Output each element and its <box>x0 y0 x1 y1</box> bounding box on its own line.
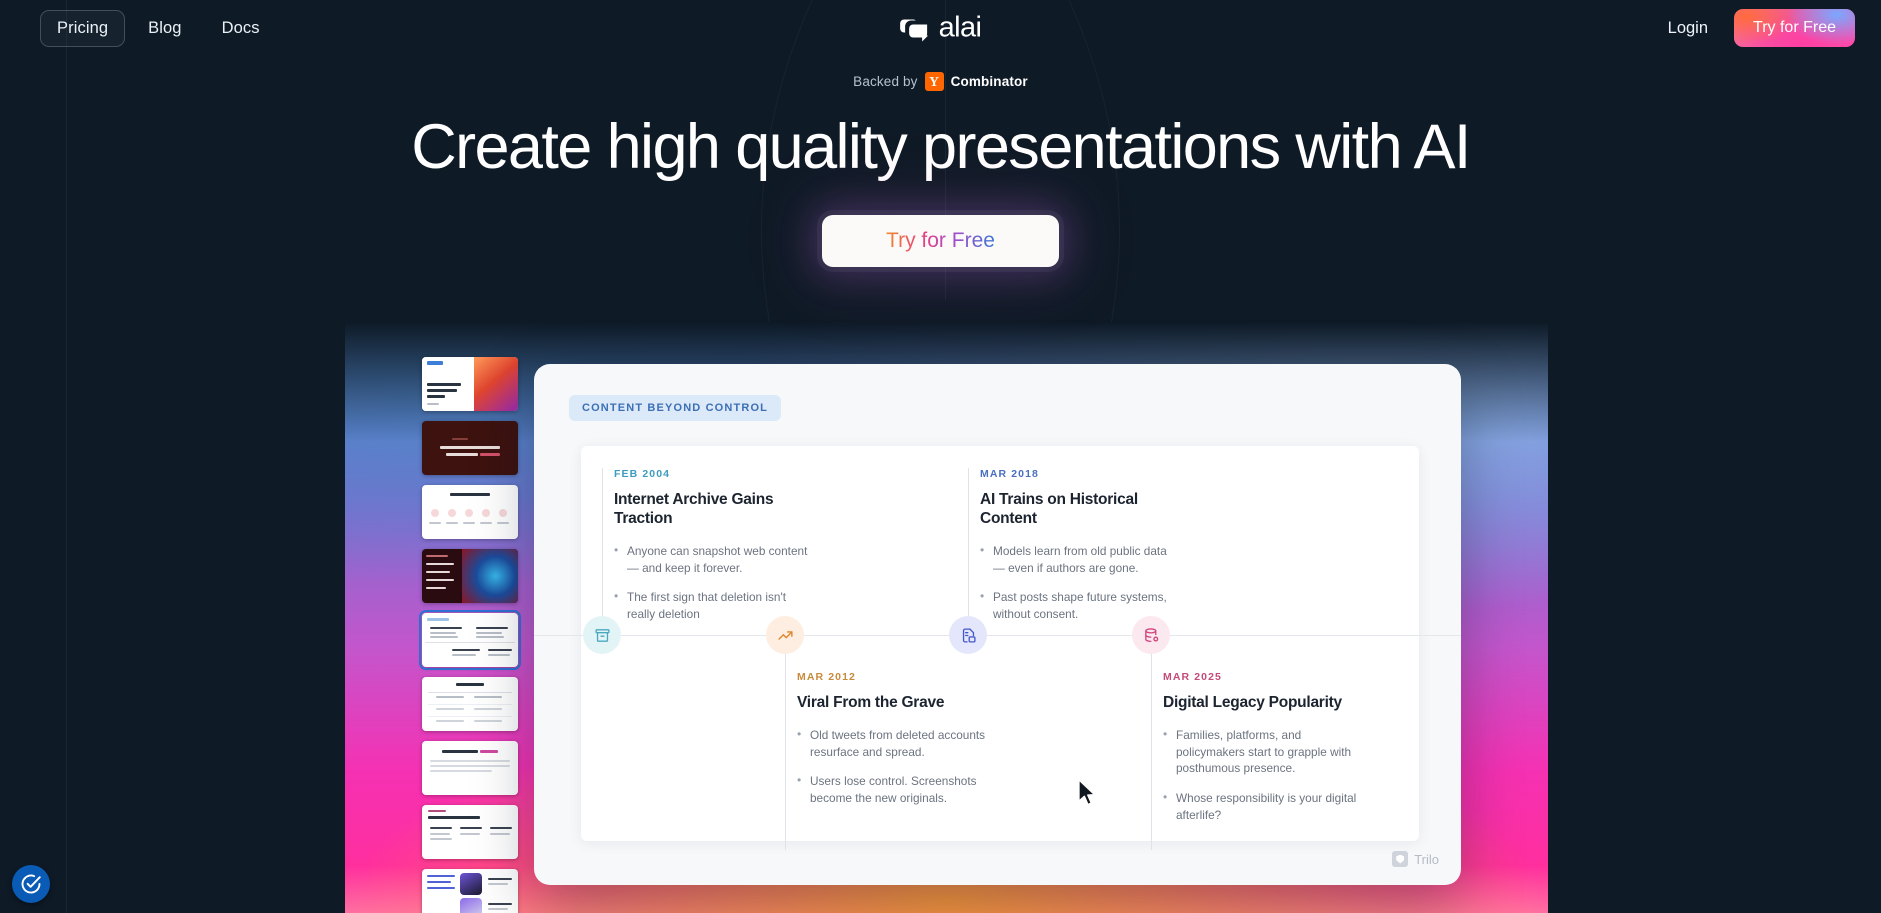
timeline-date: MAR 2012 <box>797 671 993 683</box>
timeline-title: Viral From the Grave <box>797 694 993 713</box>
timeline-date: MAR 2025 <box>1163 671 1359 683</box>
login-link[interactable]: Login <box>1658 13 1718 44</box>
document-ai-icon[interactable] <box>949 616 987 654</box>
timeline-board: FEB 2004 Internet Archive Gains Traction… <box>581 446 1419 841</box>
timeline-bullets: Models learn from old public data — even… <box>980 543 1176 623</box>
timeline-title: Digital Legacy Popularity <box>1163 694 1359 713</box>
list-item[interactable] <box>422 485 518 539</box>
page-title: Create high quality presentations with A… <box>0 113 1881 181</box>
list-item: Families, platforms, and policymakers st… <box>1163 727 1359 777</box>
timeline-bullets: Anyone can snapshot web content — and ke… <box>614 543 810 623</box>
list-item: Old tweets from deleted accounts resurfa… <box>797 727 993 761</box>
database-settings-icon[interactable] <box>1132 616 1170 654</box>
slide-thumbnail-rail[interactable] <box>422 357 518 913</box>
shield-icon <box>1392 851 1408 867</box>
list-item[interactable] <box>422 677 518 731</box>
ycombinator-icon: Y <box>925 72 944 91</box>
nav-links: Pricing Blog Docs <box>40 10 277 47</box>
try-for-free-nav-button[interactable]: Try for Free <box>1734 9 1855 47</box>
nav-item-blog[interactable]: Blog <box>131 10 198 47</box>
brand-name: alai <box>939 12 982 45</box>
list-item[interactable] <box>422 805 518 859</box>
trilo-label: Trilo <box>1414 852 1439 867</box>
backed-by-badge: Backed by Y Combinator <box>853 72 1028 91</box>
timeline-stem <box>785 635 786 850</box>
nav-actions: Login Try for Free <box>1658 9 1855 47</box>
list-item-selected[interactable] <box>422 613 518 667</box>
timeline-entry: FEB 2004 Internet Archive Gains Traction… <box>614 468 810 636</box>
trilo-watermark: Trilo <box>1392 851 1439 867</box>
landing-page: Pricing Blog Docs alai Login Try for Fre… <box>0 0 1881 913</box>
list-item: Models learn from old public data — even… <box>980 543 1176 577</box>
timeline-date: FEB 2004 <box>614 468 810 480</box>
list-item[interactable] <box>422 357 518 411</box>
timeline-entry: MAR 2018 AI Trains on Historical Content… <box>980 468 1176 636</box>
try-for-free-hero-button[interactable]: Try for Free <box>822 215 1059 267</box>
list-item[interactable] <box>422 421 518 475</box>
backed-by-label: Backed by <box>853 74 917 89</box>
list-item: Anyone can snapshot web content — and ke… <box>614 543 810 577</box>
timeline-title: Internet Archive Gains Traction <box>614 491 810 529</box>
list-item: Users lose control. Screenshots become t… <box>797 773 993 807</box>
brand-logo[interactable]: alai <box>900 12 982 45</box>
timeline-stem <box>1151 635 1152 850</box>
timeline-date: MAR 2018 <box>980 468 1176 480</box>
list-item: Whose responsibility is your digital aft… <box>1163 790 1359 824</box>
list-item[interactable] <box>422 741 518 795</box>
timeline-title: AI Trains on Historical Content <box>980 491 1176 529</box>
accessibility-check-icon[interactable] <box>12 865 50 903</box>
list-item[interactable] <box>422 869 518 913</box>
top-navigation: Pricing Blog Docs alai Login Try for Fre… <box>0 0 1881 56</box>
list-item[interactable] <box>422 549 518 603</box>
slide-section-chip: CONTENT BEYOND CONTROL <box>569 395 781 421</box>
timeline-bullets: Families, platforms, and policymakers st… <box>1163 727 1359 824</box>
archive-box-icon[interactable] <box>583 616 621 654</box>
nav-item-docs[interactable]: Docs <box>205 10 277 47</box>
hero-cta-wrapper: Try for Free <box>0 215 1881 267</box>
try-for-free-hero-label: Try for Free <box>886 229 995 253</box>
timeline-bullets: Old tweets from deleted accounts resurfa… <box>797 727 993 807</box>
trending-up-icon[interactable] <box>766 616 804 654</box>
timeline-entry: MAR 2012 Viral From the Grave Old tweets… <box>797 671 993 820</box>
ycombinator-label: Combinator <box>951 74 1028 89</box>
timeline-entry: MAR 2025 Digital Legacy Popularity Famil… <box>1163 671 1359 837</box>
slide-canvas[interactable]: CONTENT BEYOND CONTROL FEB 2004 Internet… <box>534 364 1461 885</box>
speech-bubbles-icon <box>900 17 930 39</box>
hero-section: Backed by Y Combinator Create high quali… <box>0 72 1881 267</box>
nav-item-pricing[interactable]: Pricing <box>40 10 125 47</box>
